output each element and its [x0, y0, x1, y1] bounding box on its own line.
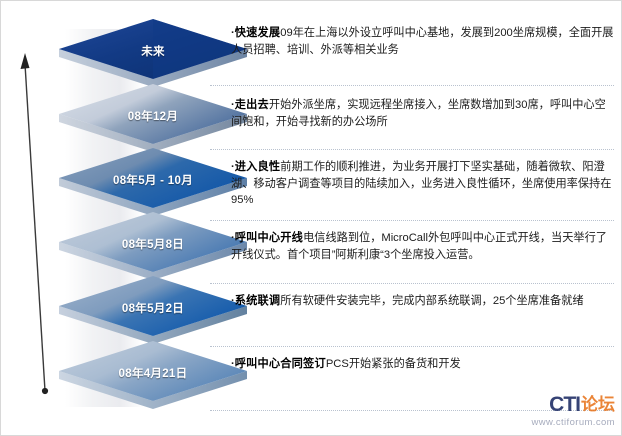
separator-2 [210, 149, 614, 150]
stage-body-2: 开始外派坐席，实现远程坐席接入，坐席数增加到30席，呼叫中心空间饱和，开始寻找新… [231, 99, 606, 128]
watermark: CTI 论坛 www.ctiforum.com [483, 394, 615, 432]
stage-desc-1: ·快速发展09年在上海以外设立呼叫中心基地，发展到200坐席规模，全面开展人员招… [231, 25, 615, 58]
stage-desc-4: ·呼叫中心开线电信线路到位，MicroCall外包呼叫中心正式开线，当天举行了开… [231, 230, 615, 263]
stage-heading-6: 呼叫中心合同签订 [235, 358, 326, 370]
separator-4 [210, 283, 614, 284]
stage-desc-3: ·进入良性前期工作的顺利推进，为业务开展打下坚实基础，随着微软、阳澄湖、移动客户… [231, 159, 615, 209]
watermark-url: www.ctiforum.com [483, 417, 615, 428]
watermark-logo: CTI 论坛 [483, 394, 615, 416]
separator-1 [210, 85, 614, 86]
separator-5 [210, 346, 614, 347]
stage-desc-5: ·系统联调所有软硬件安装完毕，完成内部系统联调，25个坐席准备就绪 [231, 293, 615, 310]
watermark-brand-zh: 论坛 [581, 395, 615, 415]
stage-heading-2: 走出去 [235, 99, 269, 111]
stage-heading-3: 进入良性 [235, 161, 281, 173]
timeline-rows: 未来 ·快速发展09年在上海以外设立呼叫中心基地，发展到200坐席规模，全面开展… [1, 1, 622, 436]
stage-body-5: 所有软硬件安装完毕，完成内部系统联调，25个坐席准备就绪 [280, 295, 583, 307]
stage-heading-4: 呼叫中心开线 [235, 232, 303, 244]
stage-body-6: PCS开始紧张的备货和开发 [326, 358, 461, 370]
stage-desc-2: ·走出去开始外派坐席，实现远程坐席接入，坐席数增加到30席，呼叫中心空间饱和，开… [231, 97, 615, 130]
separator-3 [210, 220, 614, 221]
stage-plate-6[interactable]: 08年4月21日 [55, 331, 251, 423]
slide-canvas: 未来 ·快速发展09年在上海以外设立呼叫中心基地，发展到200坐席规模，全面开展… [0, 0, 622, 436]
stage-heading-1: 快速发展 [235, 27, 281, 39]
stage-body-1: 09年在上海以外设立呼叫中心基地，发展到200坐席规模，全面开展人员招聘、培训、… [231, 27, 613, 56]
stage-body-3: 前期工作的顺利推进，为业务开展打下坚实基础，随着微软、阳澄湖、移动客户调查等项目… [231, 161, 611, 206]
watermark-brand-latin: CTI [549, 395, 580, 415]
stage-desc-6: ·呼叫中心合同签订PCS开始紧张的备货和开发 [231, 356, 615, 373]
stage-heading-5: 系统联调 [235, 295, 281, 307]
